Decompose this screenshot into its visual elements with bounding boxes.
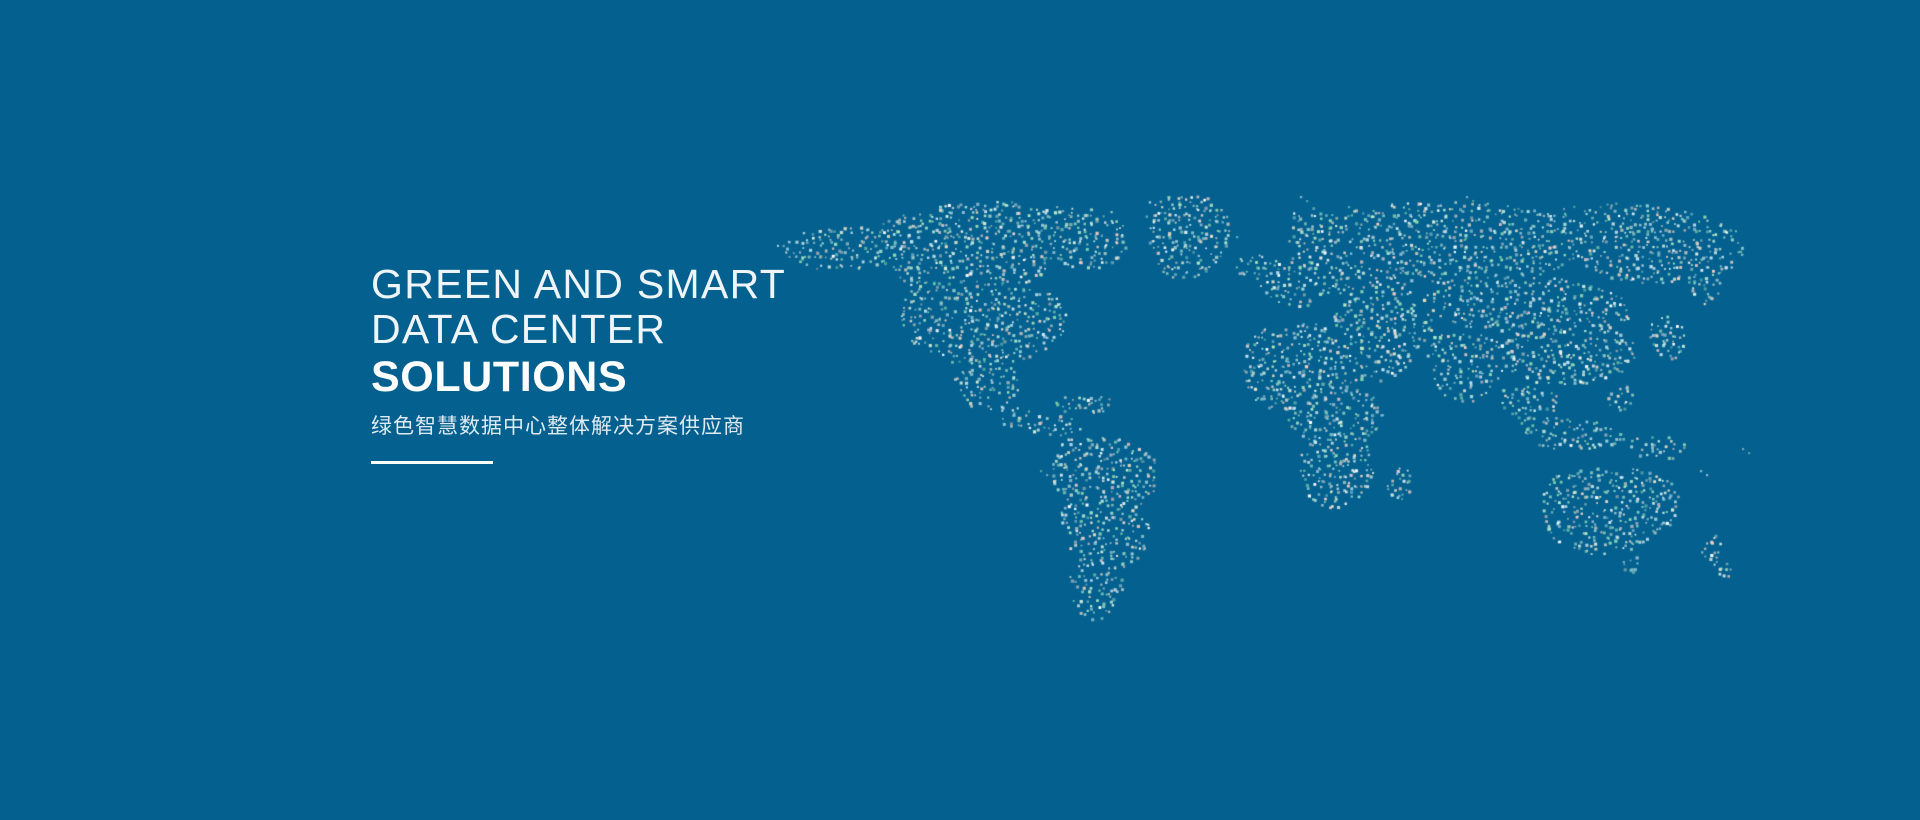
headline-line-3: SOLUTIONS bbox=[371, 352, 1071, 402]
hero-banner: GREEN AND SMART DATA CENTER SOLUTIONS 绿色… bbox=[0, 0, 1920, 820]
hero-text-block: GREEN AND SMART DATA CENTER SOLUTIONS 绿色… bbox=[371, 262, 1071, 464]
headline-line-1: GREEN AND SMART bbox=[371, 262, 1071, 307]
headline-line-2: DATA CENTER bbox=[371, 307, 1071, 352]
subtitle-chinese: 绿色智慧数据中心整体解决方案供应商 bbox=[371, 414, 1071, 440]
accent-rule bbox=[371, 461, 493, 464]
